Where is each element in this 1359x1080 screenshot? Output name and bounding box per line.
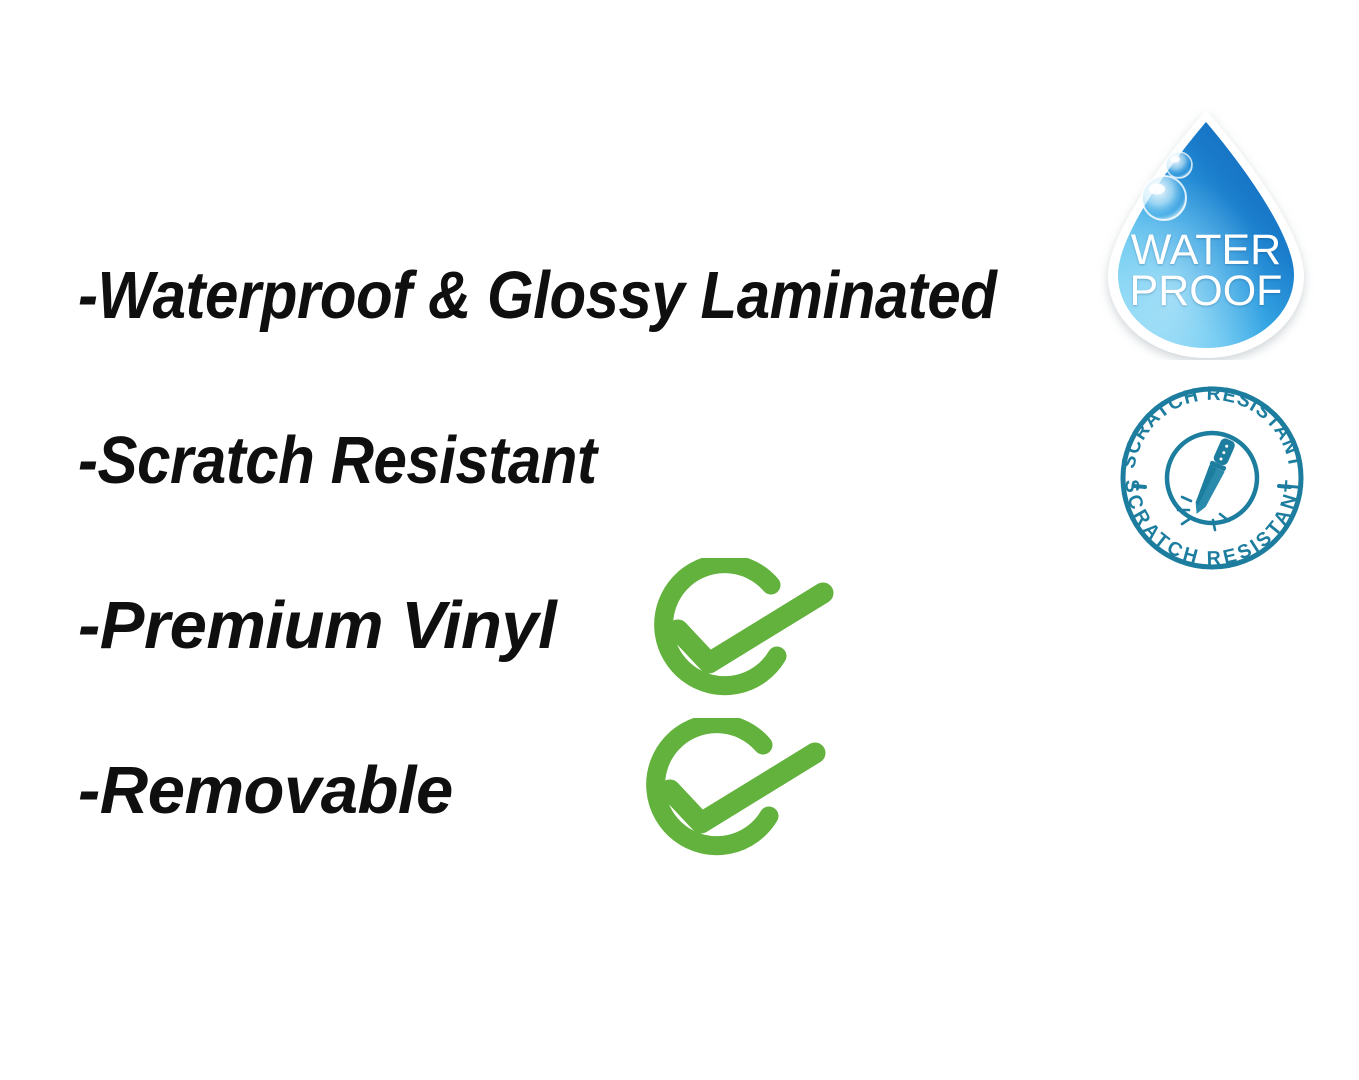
check-tick xyxy=(670,753,815,823)
feature-item-removable: -Removable xyxy=(78,757,453,824)
droplet-bubble-large xyxy=(1142,176,1186,220)
droplet-sheen xyxy=(1118,122,1294,348)
scratch-resistant-stamp-icon: SCRATCH RESISTANT SCRATCH RESISTANT xyxy=(1112,383,1312,573)
water-drop-icon xyxy=(1098,108,1314,360)
droplet-bubble-small xyxy=(1166,152,1192,178)
feature-item-waterproof-glossy-laminated: -Waterproof & Glossy Laminated xyxy=(78,262,996,329)
check-circle-icon xyxy=(636,558,841,710)
knife-icon xyxy=(1189,436,1237,517)
check-circle-premium-vinyl xyxy=(636,558,841,710)
check-circle-icon xyxy=(628,718,833,870)
scratch-resistant-badge: SCRATCH RESISTANT SCRATCH RESISTANT xyxy=(1112,383,1312,573)
product-features-graphic: -Waterproof & Glossy Laminated -Scratch … xyxy=(0,0,1359,1080)
waterproof-badge: WATER PROOF xyxy=(1098,108,1314,360)
check-circle-removable xyxy=(628,718,833,870)
feature-item-premium-vinyl: -Premium Vinyl xyxy=(78,592,556,659)
check-tick xyxy=(678,593,823,663)
feature-item-scratch-resistant: -Scratch Resistant xyxy=(78,427,596,494)
stamp-text-top: SCRATCH RESISTANT xyxy=(1118,383,1307,470)
